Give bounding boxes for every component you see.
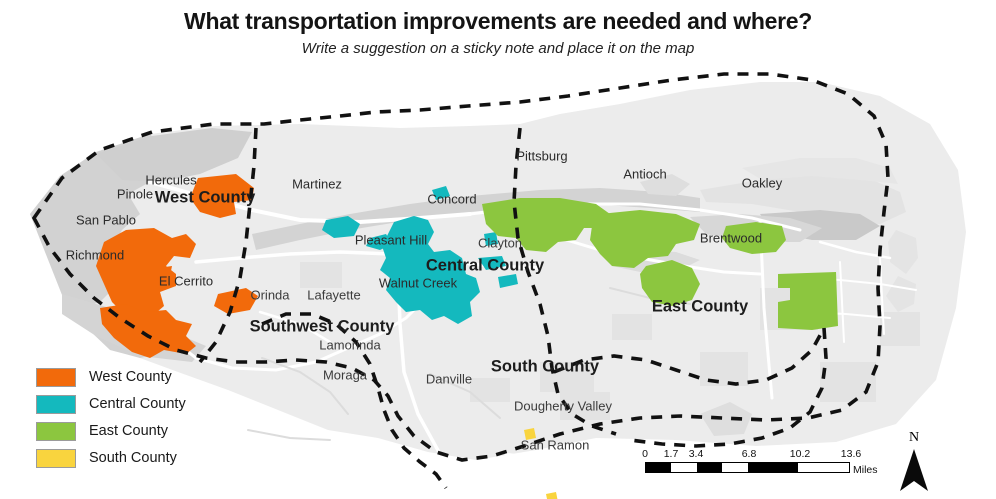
scale-seg-2: [671, 463, 696, 472]
legend-label-west-county: West County: [89, 369, 172, 385]
scale-seg-5: [748, 463, 799, 472]
legend: West County Central County East County S…: [36, 365, 226, 473]
north-arrow-glyph: [897, 447, 931, 493]
legend-swatch-south-county: [36, 449, 76, 468]
scale-tick-3.4: 3.4: [689, 448, 704, 460]
north-arrow-label: N: [897, 430, 931, 446]
legend-swatch-west-county: [36, 368, 76, 387]
scale-tick-0: 0: [642, 448, 648, 460]
scale-unit-label: Miles: [853, 464, 878, 476]
legend-swatch-central-county: [36, 395, 76, 414]
legend-item-south-county[interactable]: South County: [36, 446, 226, 470]
scale-seg-1: [646, 463, 671, 472]
scale-tick-6.8: 6.8: [742, 448, 757, 460]
legend-label-east-county: East County: [89, 423, 168, 439]
map-poster: What transportation improvements are nee…: [0, 0, 996, 499]
legend-item-east-county[interactable]: East County: [36, 419, 226, 443]
scale-tick-10.2: 10.2: [790, 448, 810, 460]
legend-swatch-east-county: [36, 422, 76, 441]
scale-seg-3: [697, 463, 722, 472]
scale-tick-13.6: 13.6: [841, 448, 861, 460]
scale-bar-ticks: 0 1.7 3.4 6.8 10.2 13.6: [636, 448, 866, 462]
page-subtitle: Write a suggestion on a sticky note and …: [0, 40, 996, 57]
legend-item-west-county[interactable]: West County: [36, 365, 226, 389]
legend-item-central-county[interactable]: Central County: [36, 392, 226, 416]
scale-tick-1.7: 1.7: [664, 448, 679, 460]
legend-label-central-county: Central County: [89, 396, 186, 412]
legend-label-south-county: South County: [89, 450, 177, 466]
scale-seg-6: [798, 463, 849, 472]
scale-seg-4: [722, 463, 747, 472]
scale-bar: [645, 462, 850, 473]
north-arrow-icon: N: [897, 430, 931, 492]
page-title: What transportation improvements are nee…: [0, 8, 996, 35]
